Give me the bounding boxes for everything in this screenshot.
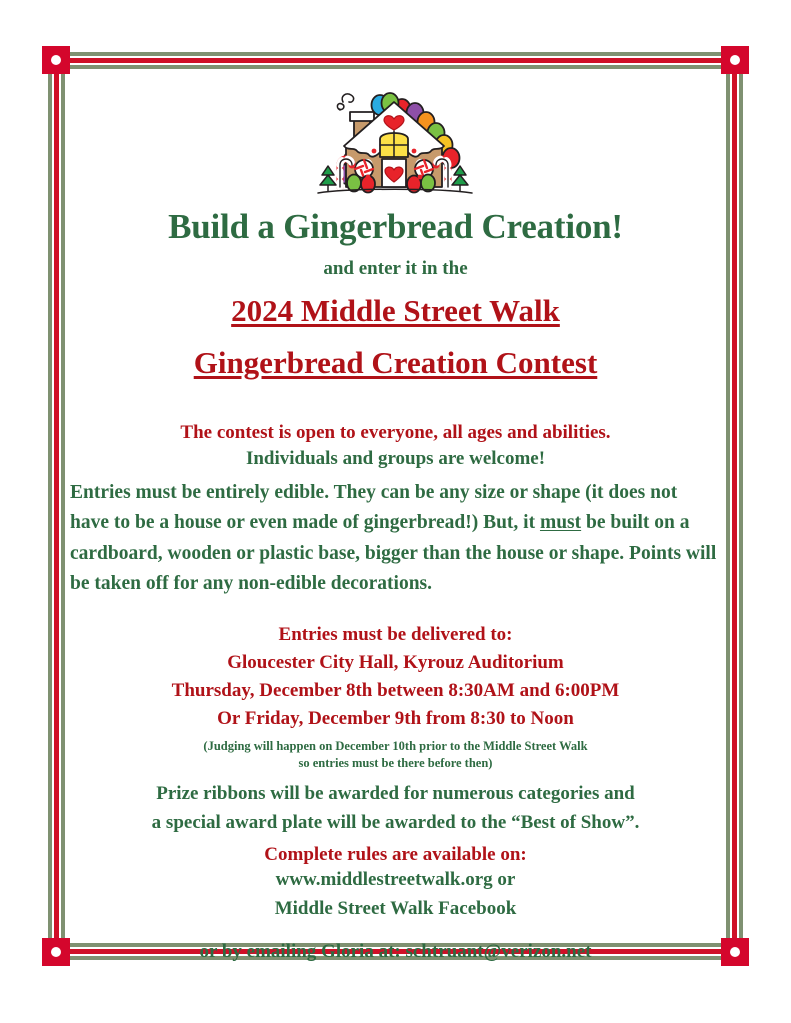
delivery-heading: Entries must be delivered to:: [70, 621, 721, 649]
judging-note: (Judging will happen on December 10th pr…: [70, 738, 721, 773]
eligibility-open-line: The contest is open to everyone, all age…: [70, 422, 721, 444]
delivery-block: Entries must be delivered to: Gloucester…: [70, 621, 721, 733]
artwork-container: [70, 66, 721, 201]
frame-corner-top-right: [721, 46, 749, 74]
frame-border-right: [726, 52, 743, 960]
rules-info-heading: Complete rules are available on:: [70, 844, 721, 866]
event-title-line-1: 2024 Middle Street Walk: [70, 291, 721, 332]
judging-note-line-1: (Judging will happen on December 10th pr…: [70, 738, 721, 755]
flyer-content: Build a Gingerbread Creation! and enter …: [70, 60, 721, 963]
eligibility-welcome-line: Individuals and groups are welcome!: [70, 448, 721, 470]
frame-corner-bottom-right: [721, 938, 749, 966]
contact-email-line: or by emailing Gloria at: schtruant@veri…: [70, 941, 721, 963]
prizes-line-1: Prize ribbons will be awarded for numero…: [70, 780, 721, 809]
rules-paragraph-emphasis: must: [540, 512, 581, 533]
delivery-window-thursday: Thursday, December 8th between 8:30AM an…: [70, 677, 721, 705]
prizes-block: Prize ribbons will be awarded for numero…: [70, 780, 721, 837]
frame-corner-bottom-left: [42, 938, 70, 966]
frame-border-left: [48, 52, 65, 960]
rules-info-website: www.middlestreetwalk.org or: [70, 866, 721, 895]
prizes-line-2: a special award plate will be awarded to…: [70, 809, 721, 838]
page-title: Build a Gingerbread Creation!: [70, 207, 721, 247]
event-title-line-2: Gingerbread Creation Contest: [70, 343, 721, 384]
judging-note-line-2: so entries must be there before then): [70, 755, 721, 772]
delivery-window-friday: Or Friday, December 9th from 8:30 to Noo…: [70, 705, 721, 733]
delivery-venue: Gloucester City Hall, Kyrouz Auditorium: [70, 649, 721, 677]
rules-paragraph: Entries must be entirely edible. They ca…: [70, 478, 721, 599]
sub-headline: and enter it in the: [70, 258, 721, 280]
frame-corner-top-left: [42, 46, 70, 74]
gingerbread-house-icon: [310, 69, 482, 201]
rules-info-facebook: Middle Street Walk Facebook: [70, 895, 721, 924]
